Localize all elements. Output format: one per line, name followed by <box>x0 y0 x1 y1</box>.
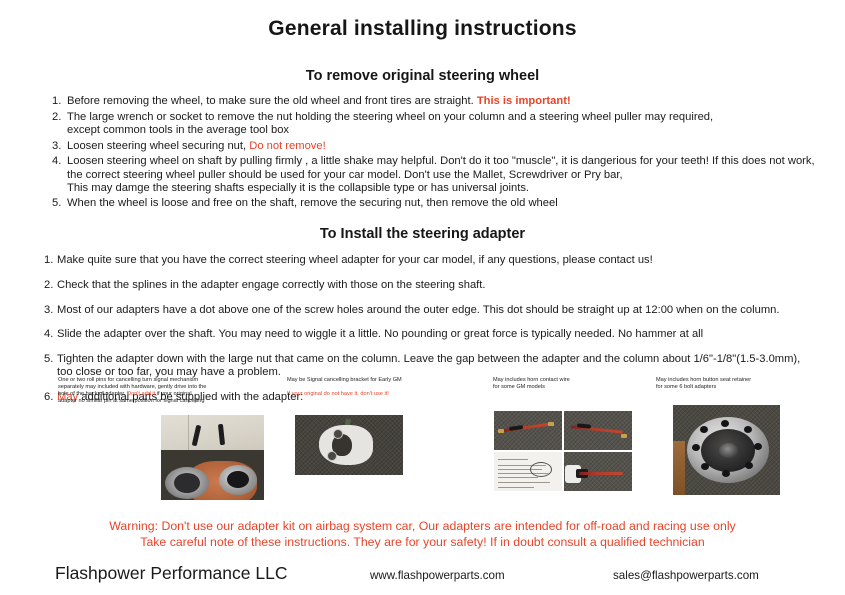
text-run: When the wheel is loose and free on the … <box>67 197 558 209</box>
text-run: May includes horn contact wire <box>493 377 570 383</box>
photo-roll-pins <box>161 415 264 500</box>
text-run: except common tools in the average tool … <box>67 124 289 136</box>
text-run: for some 6 bolt adapters <box>656 384 716 390</box>
panel-roll-pins: One or two roll pins for cancelling turn… <box>58 377 263 405</box>
wire-terminal-2 <box>548 422 554 426</box>
text-run: Check that the splines in the adapter en… <box>57 279 486 291</box>
parts-panel-group: One or two roll pins for cancelling turn… <box>0 377 845 517</box>
list-item-line: Slide the adapter over the shaft. You ma… <box>57 328 845 341</box>
text-run: Tighten the adapter down with the large … <box>57 353 800 365</box>
text-run: May includes horn button seat retainer <box>656 377 751 383</box>
retainer-bolt-hole <box>745 462 753 469</box>
caption-line: for some 6 bolt adapters <box>656 384 840 391</box>
page-title: General installing instructions <box>0 0 845 41</box>
paper-background <box>161 415 264 450</box>
list-item-line: Most of our adapters have a dot above on… <box>57 304 845 317</box>
caption-horn-button-seat-retainer: May includes horn button seat retainerfo… <box>650 377 840 391</box>
list-item-text: Make quite sure that you have the correc… <box>57 254 845 267</box>
caption-line: If your original do not have it, don't u… <box>287 391 466 398</box>
caption-line: for some GM models <box>493 384 662 391</box>
text-run: separately may included with hardware, g… <box>58 384 206 390</box>
list-item: 2.The large wrench or socket to remove t… <box>52 111 845 137</box>
caption-line: hole of the back of adapter. Don't add i… <box>58 391 263 398</box>
panel-horn-contact-wire: May includes horn contact wirefor some G… <box>487 377 662 391</box>
text-run: for some GM models <box>493 384 545 390</box>
text-run: Slide the adapter over the shaft. You ma… <box>57 328 703 340</box>
list-item-line: the correct steering wheel puller should… <box>67 169 845 182</box>
list-item-number: 2. <box>52 111 67 124</box>
list-item-line: Check that the splines in the adapter en… <box>57 279 845 292</box>
list-item: 4.Loosen steering wheel on shaft by pull… <box>52 155 845 195</box>
wire-terminal-3 <box>621 434 627 438</box>
warning-line-2: Take careful note of these instructions.… <box>0 535 845 551</box>
caption-line: May be Signal cancelling bracket for Ear… <box>287 377 466 384</box>
list-item-number: 4. <box>44 328 57 341</box>
list-item-text: Before removing the wheel, to make sure … <box>67 95 845 108</box>
list-item-line: When the wheel is loose and free on the … <box>67 197 845 210</box>
contact-email[interactable]: sales@flashpowerparts.com <box>613 569 759 582</box>
list-item: 5.When the wheel is loose and free on th… <box>52 197 845 210</box>
list-item-line: Before removing the wheel, to make sure … <box>67 95 845 108</box>
page-footer: Flashpower Performance LLC www.flashpowe… <box>0 563 845 595</box>
list-item-text: Loosen steering wheel on shaft by pullin… <box>67 155 845 195</box>
instruction-sheet-diagram <box>530 462 552 477</box>
caption-line: separately may included with hardware, g… <box>58 384 263 391</box>
list-item-text: Slide the adapter over the shaft. You ma… <box>57 328 845 341</box>
list-item-line: Loosen steering wheel on shaft by pullin… <box>67 155 845 168</box>
wire-terminal-1 <box>498 429 504 433</box>
list-item-number: 1. <box>52 95 67 108</box>
list-item-number: 5. <box>52 197 67 210</box>
list-item-number: 1. <box>44 254 57 267</box>
horn-wire-3 <box>579 472 623 475</box>
list-item-line: This may damge the steering shafts espec… <box>67 182 845 195</box>
photo-quadrant-3-instruction-sheet <box>494 452 562 491</box>
panel-signal-bracket: May be Signal cancelling bracket for Ear… <box>281 377 466 398</box>
text-run: If your original do not have it, don't u… <box>287 391 389 397</box>
list-item-line: Tighten the adapter down with the large … <box>57 353 845 366</box>
text-run: Loosen steering wheel securing nut, <box>67 140 249 152</box>
text-run: Most of our adapters have a dot above on… <box>57 304 779 316</box>
list-item: 4.Slide the adapter over the shaft. You … <box>44 328 845 341</box>
list-item-number: 2. <box>44 279 57 292</box>
text-run: Make quite sure that you have the correc… <box>57 254 653 266</box>
text-run: the correct steering wheel puller should… <box>67 169 623 181</box>
panel-horn-button-seat-retainer: May includes horn button seat retainerfo… <box>650 377 840 391</box>
document-page: General installing instructions To remov… <box>0 0 845 595</box>
retainer-outer-ring <box>687 417 769 483</box>
photo-horn-button-seat-retainer <box>673 405 780 495</box>
list-item-text: Loosen steering wheel securing nut, Do n… <box>67 140 845 153</box>
retainer-bolt-hole <box>700 426 708 433</box>
caption-signal-bracket: May be Signal cancelling bracket for Ear… <box>281 377 466 398</box>
list-item-number: 4. <box>52 155 67 168</box>
section-heading-install: To Install the steering adapter <box>0 213 845 242</box>
text-run: if your original <box>157 391 192 397</box>
text-run: This is important! <box>477 95 571 107</box>
safety-warning: Warning: Don't use our adapter kit on ai… <box>0 519 845 550</box>
text-run: One or two roll pins for cancelling turn… <box>58 377 198 383</box>
adapter-hub-right <box>219 465 257 495</box>
section-heading-remove: To remove original steering wheel <box>0 41 845 84</box>
list-item-text: Check that the splines in the adapter en… <box>57 279 845 292</box>
text-run: hole of the back of adapter. <box>58 391 127 397</box>
list-item: 3.Most of our adapters have a dot above … <box>44 304 845 317</box>
list-item-text: Most of our adapters have a dot above on… <box>57 304 845 317</box>
list-item-line: Loosen steering wheel securing nut, Do n… <box>67 140 845 153</box>
list-item-number: 3. <box>52 140 67 153</box>
list-item-number: 3. <box>44 304 57 317</box>
retainer-center-hub <box>719 443 738 458</box>
text-run: adapter no similar pin at same position … <box>58 398 204 404</box>
list-item-number: 5. <box>44 353 57 366</box>
retainer-bolt-hole <box>692 444 700 451</box>
list-item: 1.Make quite sure that you have the corr… <box>44 254 845 267</box>
retainer-bolt-hole <box>722 470 730 477</box>
list-item: 1.Before removing the wheel, to make sur… <box>52 95 845 108</box>
list-item-text: The large wrench or socket to remove the… <box>67 111 845 137</box>
caption-horn-contact-wire: May includes horn contact wirefor some G… <box>487 377 662 391</box>
instruction-sheet-lines <box>498 456 558 487</box>
list-item-line: Make quite sure that you have the correc… <box>57 254 845 267</box>
retainer-bolt-hole <box>721 420 729 427</box>
photo-horn-contact-wire <box>493 410 633 492</box>
remove-instructions-list: 1.Before removing the wheel, to make sur… <box>0 95 845 211</box>
list-item-line: The large wrench or socket to remove the… <box>67 111 845 124</box>
retainer-bolt-hole <box>744 426 752 433</box>
website-url[interactable]: www.flashpowerparts.com <box>370 569 505 582</box>
text-run: The large wrench or socket to remove the… <box>67 111 713 123</box>
retainer-bolt-hole <box>701 463 709 470</box>
bracket-hole-2 <box>327 451 337 461</box>
adapter-ring-left <box>165 467 209 499</box>
warning-line-1: Warning: Don't use our adapter kit on ai… <box>109 519 735 533</box>
caption-line: May includes horn button seat retainer <box>656 377 840 384</box>
list-item: 5.Tighten the adapter down with the larg… <box>44 353 845 379</box>
list-item: 3.Loosen steering wheel securing nut, Do… <box>52 140 845 153</box>
retainer-bolt-hole <box>754 443 762 450</box>
text-run: Do not remove! <box>249 140 325 152</box>
list-item: 2.Check that the splines in the adapter … <box>44 279 845 292</box>
caption-line: One or two roll pins for cancelling turn… <box>58 377 263 384</box>
list-item-text: Tighten the adapter down with the large … <box>57 353 845 379</box>
caption-line: adapter no similar pin at same position … <box>58 398 263 405</box>
text-run: May be Signal cancelling bracket for Ear… <box>287 377 402 383</box>
caption-line <box>287 384 466 391</box>
text-run: Loosen steering wheel on shaft by pullin… <box>67 155 815 167</box>
text-run: This may damge the steering shafts espec… <box>67 182 529 194</box>
list-item-line: except common tools in the average tool … <box>67 124 845 137</box>
caption-roll-pins: One or two roll pins for cancelling turn… <box>58 377 263 405</box>
text-run: Don't add it <box>127 391 157 397</box>
list-item-text: When the wheel is loose and free on the … <box>67 197 845 210</box>
photo-signal-bracket <box>295 415 403 475</box>
text-run: Before removing the wheel, to make sure … <box>67 95 477 107</box>
caption-line: May includes horn contact wire <box>493 377 662 384</box>
company-name: Flashpower Performance LLC <box>55 563 287 584</box>
bracket-hole-1 <box>333 429 343 439</box>
wood-edge <box>673 441 685 495</box>
